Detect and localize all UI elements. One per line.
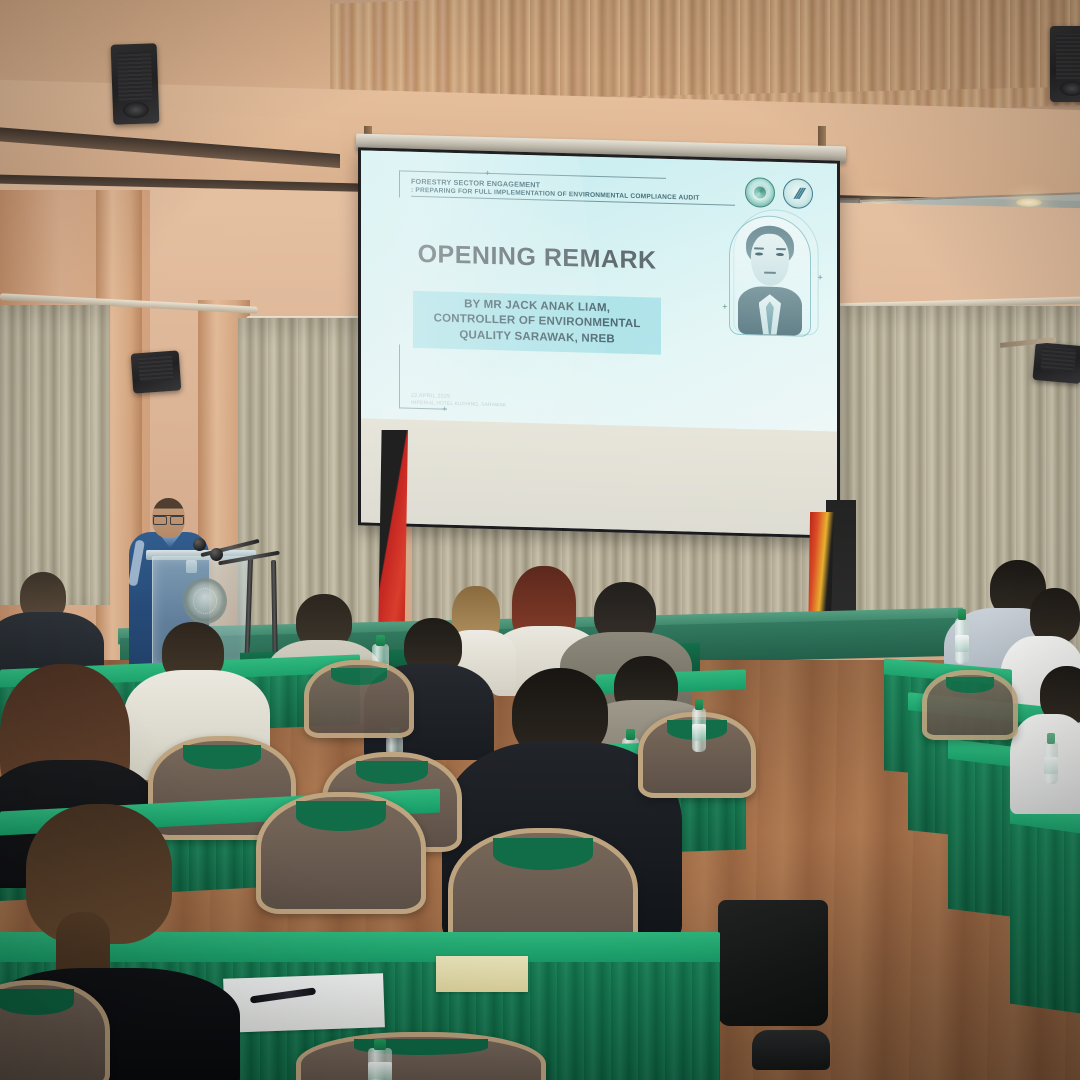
chair-row3-5 [922,670,1018,740]
water-bottle-5 [368,1048,392,1080]
downlight-4-icon [1016,198,1042,207]
slide-title: OPENING REMARK [390,240,685,277]
wall-speaker-right-icon [1032,342,1080,384]
slide-footer: 22 APRIL 2025 IMPERIAL HOTEL KUCHING, SA… [411,393,673,413]
agency-wave-logo-icon: /// [783,178,813,209]
presenter-glasses-icon [153,515,184,522]
lectern-crest-emblem-icon [183,578,227,624]
table-right-d-skirt [1010,824,1080,1021]
ceiling-speaker-left-icon [111,43,160,125]
chair-row3-3 [304,660,414,738]
slide-plus-mark-4: + [722,302,727,311]
backpack [718,900,828,1026]
shoe [752,1030,830,1070]
ceiling-wood-slats-secondary [470,0,1080,99]
screen-blank-area [361,418,837,535]
screen-surface: + + + + FORESTRY SECTOR ENGAGEMENT : PRE… [358,147,840,538]
slide-plus-mark-1: + [485,169,490,178]
water-bottle-7 [1044,742,1058,784]
microphone-head-1-icon [193,538,206,551]
slide-subtitle-box: BY MR JACK ANAK LIAM, CONTROLLER OF ENVI… [413,291,661,354]
projector-screen: + + + + FORESTRY SECTOR ENGAGEMENT : PRE… [356,140,846,530]
screen-bracket-right [818,126,826,148]
conference-hall-photo: + + + + FORESTRY SECTOR ENGAGEMENT : PRE… [0,0,1080,1080]
ceiling-speaker-right-icon [1050,26,1080,102]
presentation-slide: + + + + FORESTRY SECTOR ENGAGEMENT : PRE… [361,150,837,431]
flag-left [378,430,408,646]
water-bottle-2 [955,618,969,664]
wall-speaker-left-icon [131,350,182,393]
microphone-head-2-icon [210,548,223,561]
curtain-far-left [0,305,110,605]
notepad [436,956,528,992]
slide-logo-group: /// [745,177,813,209]
nreb-logo-icon [745,177,775,208]
paper-sheet [223,973,385,1033]
water-bottle-6 [692,708,706,752]
slide-kicker: FORESTRY SECTOR ENGAGEMENT : PREPARING F… [411,177,763,207]
chair-row4-1 [256,792,426,914]
slide-portrait-illustration [729,214,811,336]
